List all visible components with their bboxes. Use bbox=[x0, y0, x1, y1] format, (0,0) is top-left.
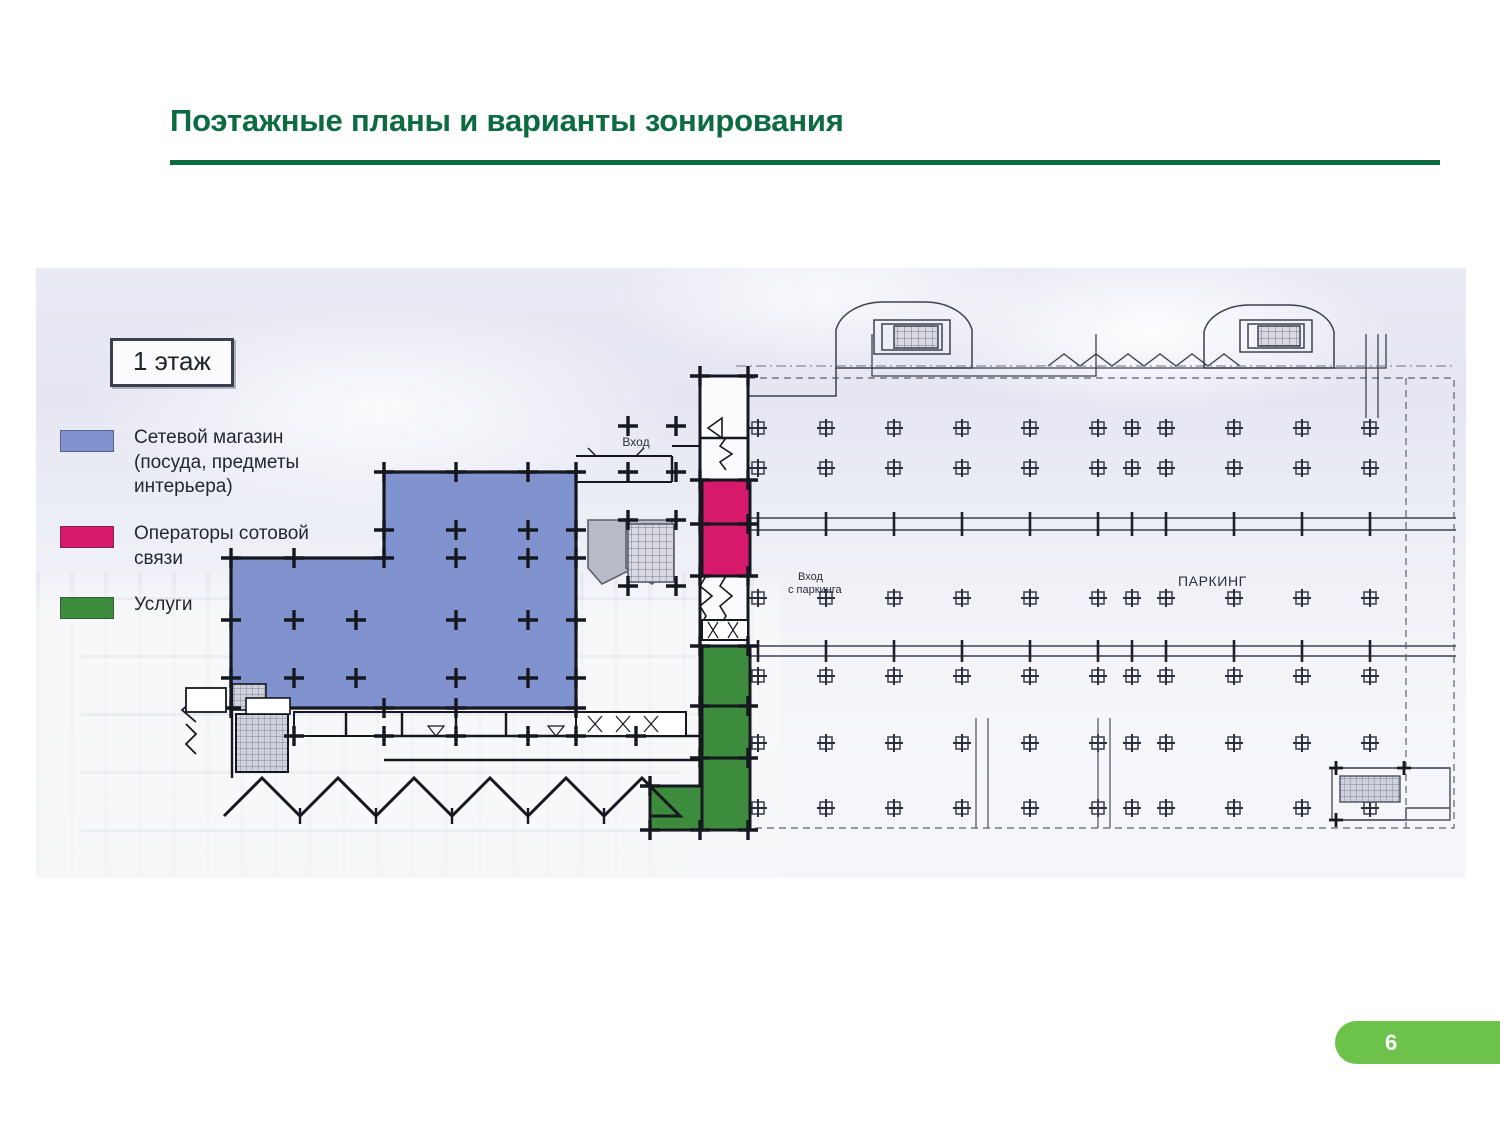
label-parking: ПАРКИНГ bbox=[1178, 573, 1247, 589]
legend-item-network-store: Сетевой магазин (посуда, предметы интерь… bbox=[60, 426, 360, 500]
parking-area bbox=[736, 334, 1456, 828]
legend-label-mobile-operators: Операторы сотовой связи bbox=[134, 522, 360, 571]
page-title: Поэтажные планы и варианты зонирования bbox=[170, 103, 844, 139]
plan-legend: Сетевой магазин (посуда, предметы интерь… bbox=[60, 426, 360, 641]
legend-swatch-network-store bbox=[60, 430, 114, 452]
legend-item-mobile-operators: Операторы сотовой связи bbox=[60, 522, 360, 571]
page-number-badge: 6 bbox=[1335, 1021, 1500, 1064]
legend-label-network-store: Сетевой магазин (посуда, предметы интерь… bbox=[134, 426, 360, 500]
label-entrance: Вход bbox=[622, 435, 649, 449]
floor-badge: 1 этаж bbox=[110, 338, 234, 387]
legend-label-services: Услуги bbox=[134, 593, 192, 618]
page-number-text: 6 bbox=[1385, 1030, 1397, 1056]
legend-item-services: Услуги bbox=[60, 593, 360, 619]
floor-plan-image: Вход Вход с паркинга ПАРКИНГ 1 этаж Сете… bbox=[36, 268, 1466, 878]
title-underline-rule bbox=[170, 160, 1440, 165]
zone-mobile-operators bbox=[702, 480, 750, 576]
label-entrance-parking-1: Вход bbox=[798, 571, 823, 583]
legend-swatch-services bbox=[60, 597, 114, 619]
label-entrance-parking-2: с паркинга bbox=[788, 584, 843, 596]
stair-block-bottom-right bbox=[1329, 761, 1450, 827]
legend-swatch-mobile-operators bbox=[60, 526, 114, 548]
left-entry-details bbox=[182, 688, 226, 754]
atrium-escalator bbox=[588, 520, 674, 584]
sawtooth-ticks bbox=[300, 808, 604, 824]
